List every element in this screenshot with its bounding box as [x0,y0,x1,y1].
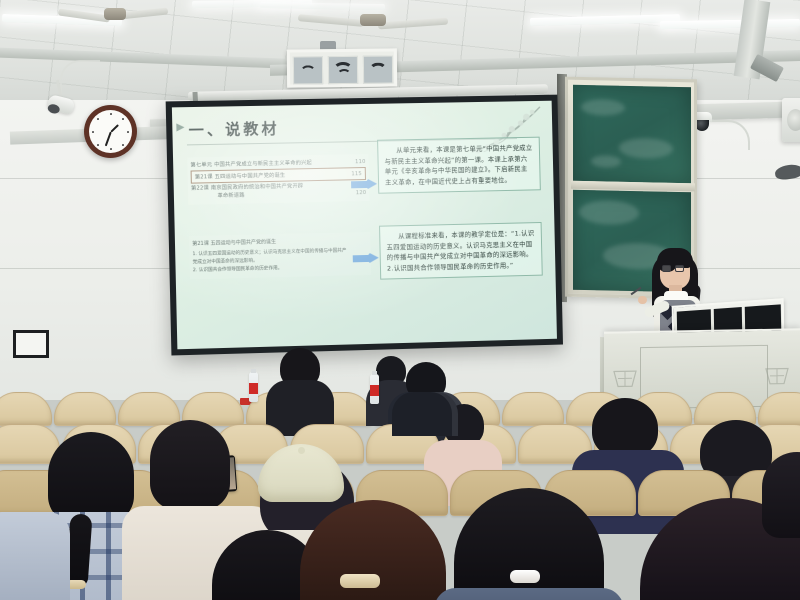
toc-unit-page: 110 [351,158,366,166]
toc-item-page: 120 [352,189,367,197]
triangle-bullet-icon [176,123,184,131]
callout-unit-text: 从单元来看，本课是第七单元“中国共产党成立与新民主主义革命兴起”的第一课。本课上… [384,143,534,188]
teacher-hand [638,296,647,304]
hair-tie [510,570,540,583]
clock-minute-hand [105,132,112,147]
slide-title: 一、说教材 [188,118,279,141]
podium-emblem-icon [612,369,638,389]
blue-right-arrow-icon [351,178,377,191]
clock-face [89,110,132,153]
slide-toc: 第七单元 中国共产党成立与新民主主义革命的兴起 110 第21课 五四运动与中国… [187,154,369,205]
wall-picture-frame [13,330,49,358]
water-bottle [249,372,258,402]
projector-cable-box [287,48,397,87]
clock-hour-hand [110,124,119,133]
projection-screen[interactable]: 一、说教材 第七单元 中国共产党成立与新民主主义革命的兴起 [166,95,563,356]
seat[interactable] [502,392,564,426]
toc-item-text: 革命新道路 [217,192,244,201]
hair-tie [340,574,380,588]
seat[interactable] [0,392,52,426]
seat[interactable] [758,392,800,426]
chalkboard-panel-top [573,85,691,183]
glasses-icon [662,265,684,272]
slide-notes: 第21课 五四运动与中国共产党的诞生 1. 认识五四爱国运动的历史意义；认识马克… [189,232,371,279]
callout-unit: 从单元来看，本课是第七单元“中国共产党成立与新民主主义革命兴起”的第一课。本课上… [377,137,541,194]
water-bottle [370,374,379,404]
blue-right-arrow-icon [353,252,379,265]
presentation-slide[interactable]: 一、说教材 第七单元 中国共产党成立与新民主主义革命的兴起 [172,101,557,350]
toc-item-page: 115 [347,170,362,178]
wall-clock [84,105,137,158]
seat[interactable] [118,392,180,426]
classroom-photo: 一、说教材 第七单元 中国共产党成立与新民主主义革命的兴起 [0,0,800,600]
callout-standard-text: 从课程标准来看，本课的教学定位是：“1.认识五四爱国运动的历史意义。认识马克思主… [386,228,536,274]
wall-speaker [782,98,800,142]
podium-emblem-icon [764,366,790,386]
cap-button [298,447,305,454]
toc-item-text: 第21课 五四运动与中国共产党的诞生 [195,171,286,181]
callout-standard: 从课程标准来看，本课的教学定位是：“1.认识五四爱国运动的历史意义。认识马克思主… [379,222,543,280]
speaker-cone [787,109,800,131]
seat[interactable] [54,392,116,426]
